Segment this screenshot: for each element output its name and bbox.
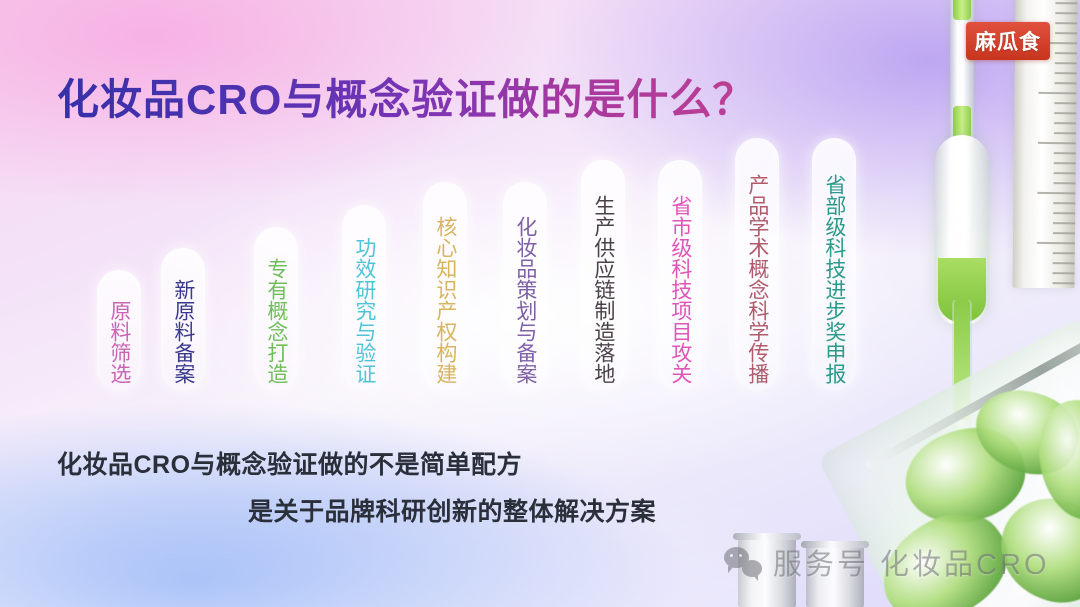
step-pill-label: 新原料备案 xyxy=(172,279,194,384)
wechat-icon xyxy=(724,547,762,577)
step-pill-6[interactable]: 化妆品策划与备案 xyxy=(503,182,547,390)
slide-canvas: 麻瓜食 化妆品CRO与概念验证做的是什么？ 原料筛选新原料备案专有概念打造功效研… xyxy=(0,0,1080,607)
step-pill-9[interactable]: 产品学术概念科学传播 xyxy=(735,138,779,390)
step-pill-8[interactable]: 省市级科技项目攻关 xyxy=(658,160,702,390)
conclusion-line-2: 是关于品牌科研创新的整体解决方案 xyxy=(248,492,656,528)
step-pill-5[interactable]: 核心知识产权构建 xyxy=(423,182,467,390)
step-pill-label: 核心知识产权构建 xyxy=(434,216,456,384)
step-pill-label: 化妆品策划与备案 xyxy=(514,216,536,384)
step-pill-4[interactable]: 功效研究与验证 xyxy=(342,205,386,390)
step-pill-1[interactable]: 原料筛选 xyxy=(97,270,141,390)
step-pill-label: 产品学术概念科学传播 xyxy=(746,174,768,384)
watermark: 服务号 化妆品CRO xyxy=(724,541,1050,583)
step-pill-label: 原料筛选 xyxy=(108,300,130,384)
step-pill-10[interactable]: 省部级科技进步奖申报 xyxy=(812,138,856,390)
step-pill-label: 省市级科技项目攻关 xyxy=(669,195,691,384)
watermark-text: 服务号 化妆品CRO xyxy=(773,541,1050,583)
conclusion-line-1: 化妆品CRO与概念验证做的不是简单配方 xyxy=(57,445,522,481)
step-pill-label: 省部级科技进步奖申报 xyxy=(823,174,845,384)
step-pill-3[interactable]: 专有概念打造 xyxy=(254,227,298,390)
step-pill-label: 生产供应链制造落地 xyxy=(592,195,614,384)
page-title: 化妆品CRO与概念验证做的是什么？ xyxy=(57,66,755,127)
step-pill-label: 功效研究与验证 xyxy=(353,237,375,384)
step-pill-7[interactable]: 生产供应链制造落地 xyxy=(581,160,625,390)
step-pill-label: 专有概念打造 xyxy=(265,258,287,384)
brand-logo: 麻瓜食 xyxy=(966,22,1050,60)
step-pill-2[interactable]: 新原料备案 xyxy=(161,248,205,390)
